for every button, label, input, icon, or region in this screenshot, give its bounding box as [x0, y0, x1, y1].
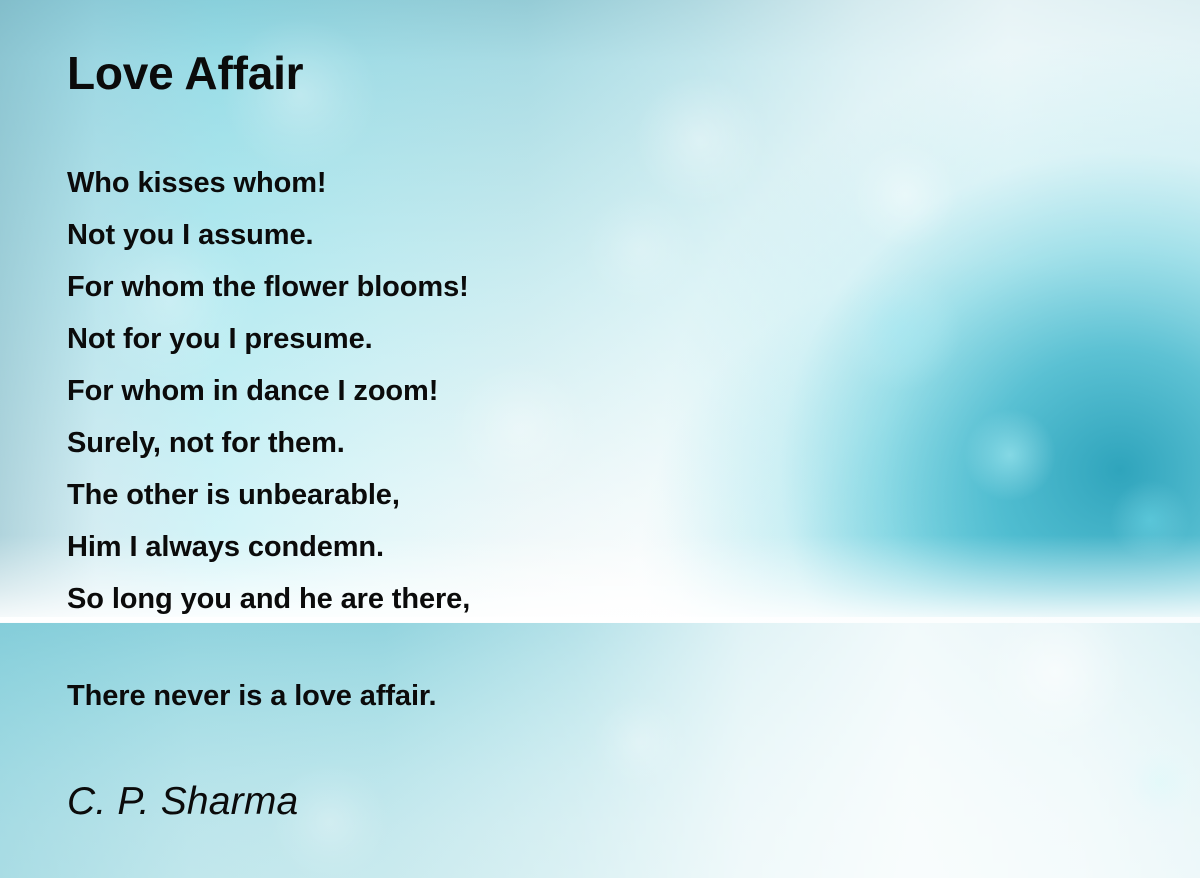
poem-line: So long you and he are there,: [67, 573, 1117, 625]
poem-line: For whom in dance I zoom!: [67, 365, 1117, 417]
poem-line: Who kisses whom!: [67, 157, 1117, 209]
poem-title: Love Affair: [67, 50, 303, 96]
poem-stanza: Who kisses whom! Not you I assume. For w…: [67, 157, 1117, 625]
poem-author-signature: C. P. Sharma: [67, 778, 298, 826]
poem-line: For whom the flower blooms!: [67, 261, 1117, 313]
poem-line: Not you I assume.: [67, 209, 1117, 261]
poem-content: Love Affair Who kisses whom! Not you I a…: [0, 0, 1200, 878]
poem-line: The other is unbearable,: [67, 469, 1117, 521]
poem-line: Not for you I presume.: [67, 313, 1117, 365]
poem-image-card: Love Affair Who kisses whom! Not you I a…: [0, 0, 1200, 878]
poem-closing-line: There never is a love affair.: [67, 676, 436, 716]
poem-line: Him I always condemn.: [67, 521, 1117, 573]
poem-line: Surely, not for them.: [67, 417, 1117, 469]
